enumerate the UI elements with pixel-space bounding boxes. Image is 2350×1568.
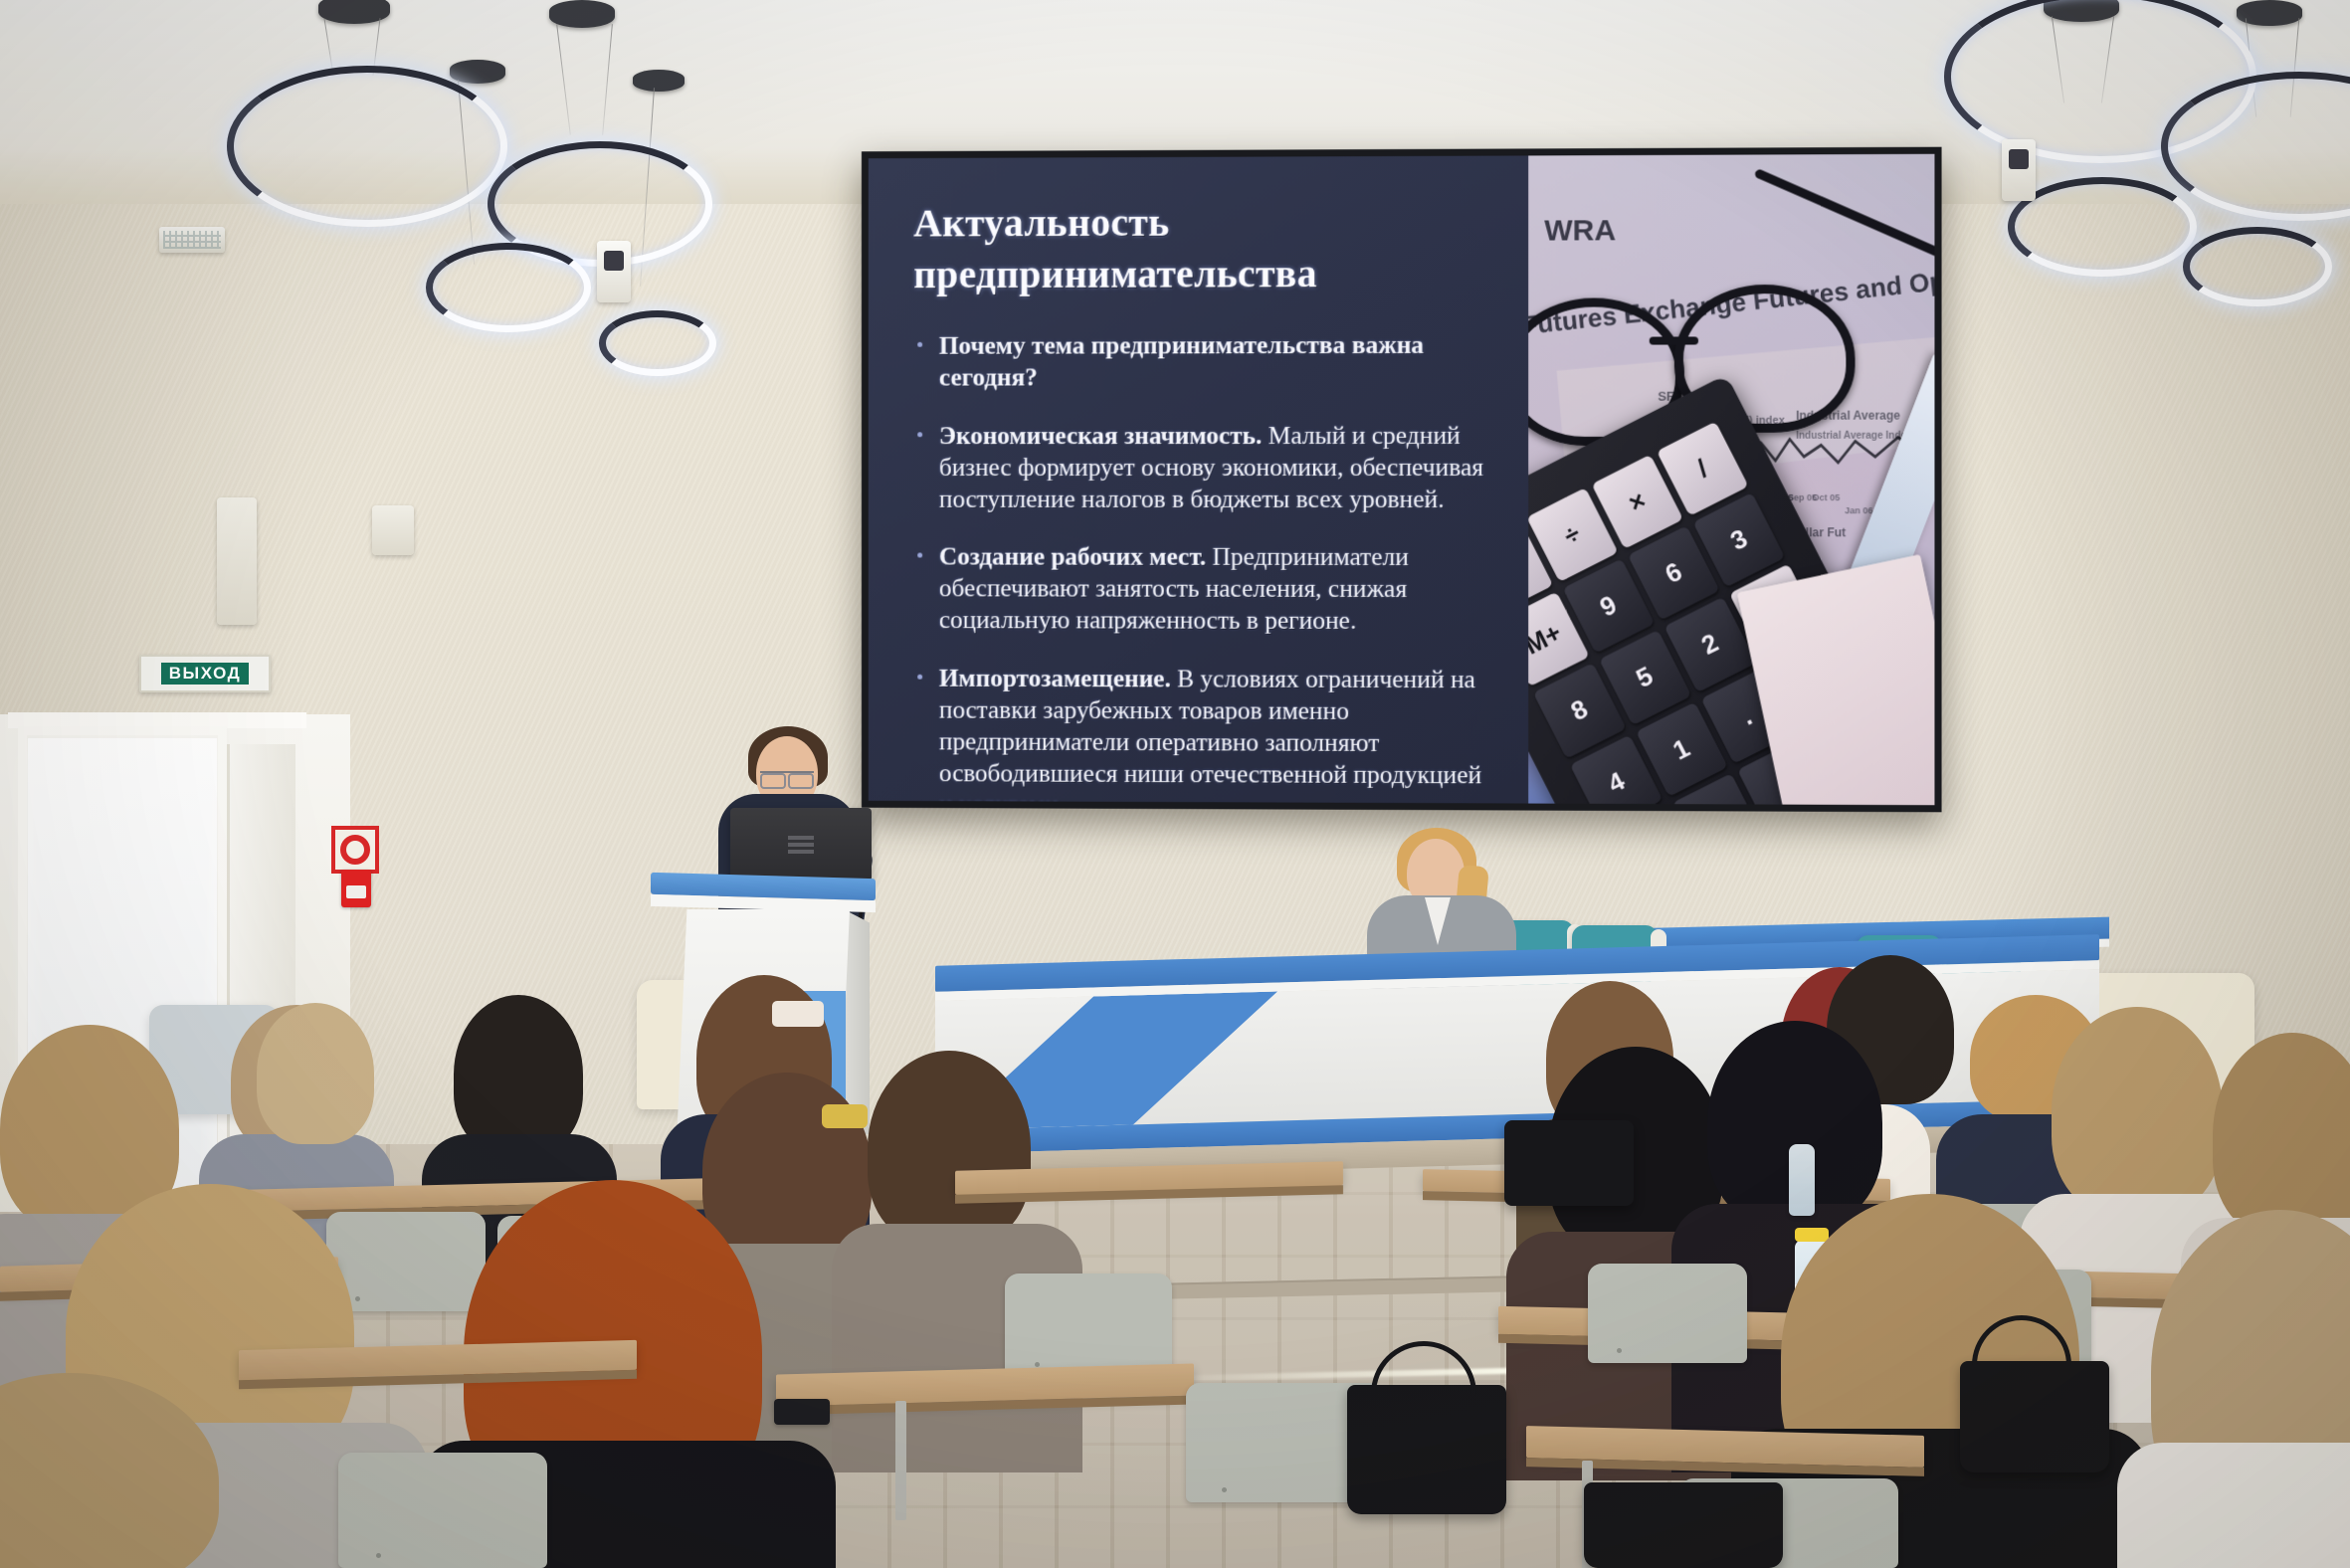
handbag[interactable] [1960,1361,2109,1472]
laptop-logo-icon [788,836,814,854]
student-chair[interactable] [1588,1264,1747,1363]
bullet-lead: Почему тема предпринимательства важна се… [939,330,1424,391]
hair-clip [772,1001,824,1027]
chart-month-tick: Jan 06 [1845,505,1872,515]
backpack-on-desk[interactable] [1504,1120,1634,1206]
list-item: Почему тема предпринимательства важна се… [913,329,1494,393]
list-item: Экономическая значимость. Малый и средни… [913,420,1494,515]
ring-pendant-light [2008,177,2197,277]
audience-head [454,995,583,1154]
bullet-lead: Импортозамещение. [939,664,1171,692]
eyeglasses-icon [760,771,814,785]
audience-head [868,1051,1031,1246]
motion-sensor [597,241,631,302]
student-chair[interactable] [338,1453,547,1568]
hair-clip [822,1104,868,1128]
laptop[interactable] [730,808,872,882]
slide-title: Актуальность предпринимательства [913,196,1494,300]
student-chair[interactable] [1005,1274,1172,1377]
slide-text-column: Актуальность предпринимательства Почему … [869,155,1528,803]
emergency-light [159,227,225,253]
ring-pendant-light [599,310,716,376]
newspaper-masthead: WRA [1544,214,1616,248]
exit-sign: ВЫХОД [139,655,271,692]
slide-bullet-list: Почему тема предпринимательства важна се… [913,329,1494,804]
list-item: Создание рабочих мест. Предприниматели о… [913,541,1494,637]
slide: Актуальность предпринимательства Почему … [869,154,1935,805]
bullet-lead: Экономическая значимость. [939,421,1263,450]
list-item: Импортозамещение. В условиях ограничений… [913,663,1494,804]
wall-speaker [217,497,257,625]
bottle-cap [1795,1228,1829,1242]
audience-body-foreground [2117,1443,2350,1568]
student-chair[interactable] [326,1212,486,1311]
handbag[interactable] [1584,1482,1783,1568]
ring-pendant-light [426,243,591,332]
water-bottle[interactable] [1789,1144,1815,1216]
wall-speaker [372,505,414,555]
fire-alarm-call-point[interactable] [341,870,371,907]
fire-alarm-sign [331,826,379,874]
ring-pendant-light [2183,227,2332,306]
audience-head [257,1003,374,1144]
exit-sign-label: ВЫХОД [161,663,249,685]
projection-screen[interactable]: Актуальность предпринимательства Почему … [862,147,1942,813]
bullet-lead: Создание рабочих мест. [939,542,1206,571]
finance-photo: WRA Futures Exchange Futures and Options… [1528,154,1934,805]
motion-sensor [2002,139,2036,201]
ring-pendant-light [227,66,507,227]
lecture-hall-photo: ВЫХОД Актуальность предпринимательства П… [0,0,2350,1568]
phone-on-desk[interactable] [774,1399,830,1425]
light-mount [633,70,685,92]
handbag-on-floor[interactable] [1347,1385,1506,1514]
slide-photo: WRA Futures Exchange Futures and Options… [1528,154,1934,805]
audience-head [2052,1007,2223,1216]
eyeglasses-bridge [1650,336,1698,344]
light-mount [549,0,615,28]
